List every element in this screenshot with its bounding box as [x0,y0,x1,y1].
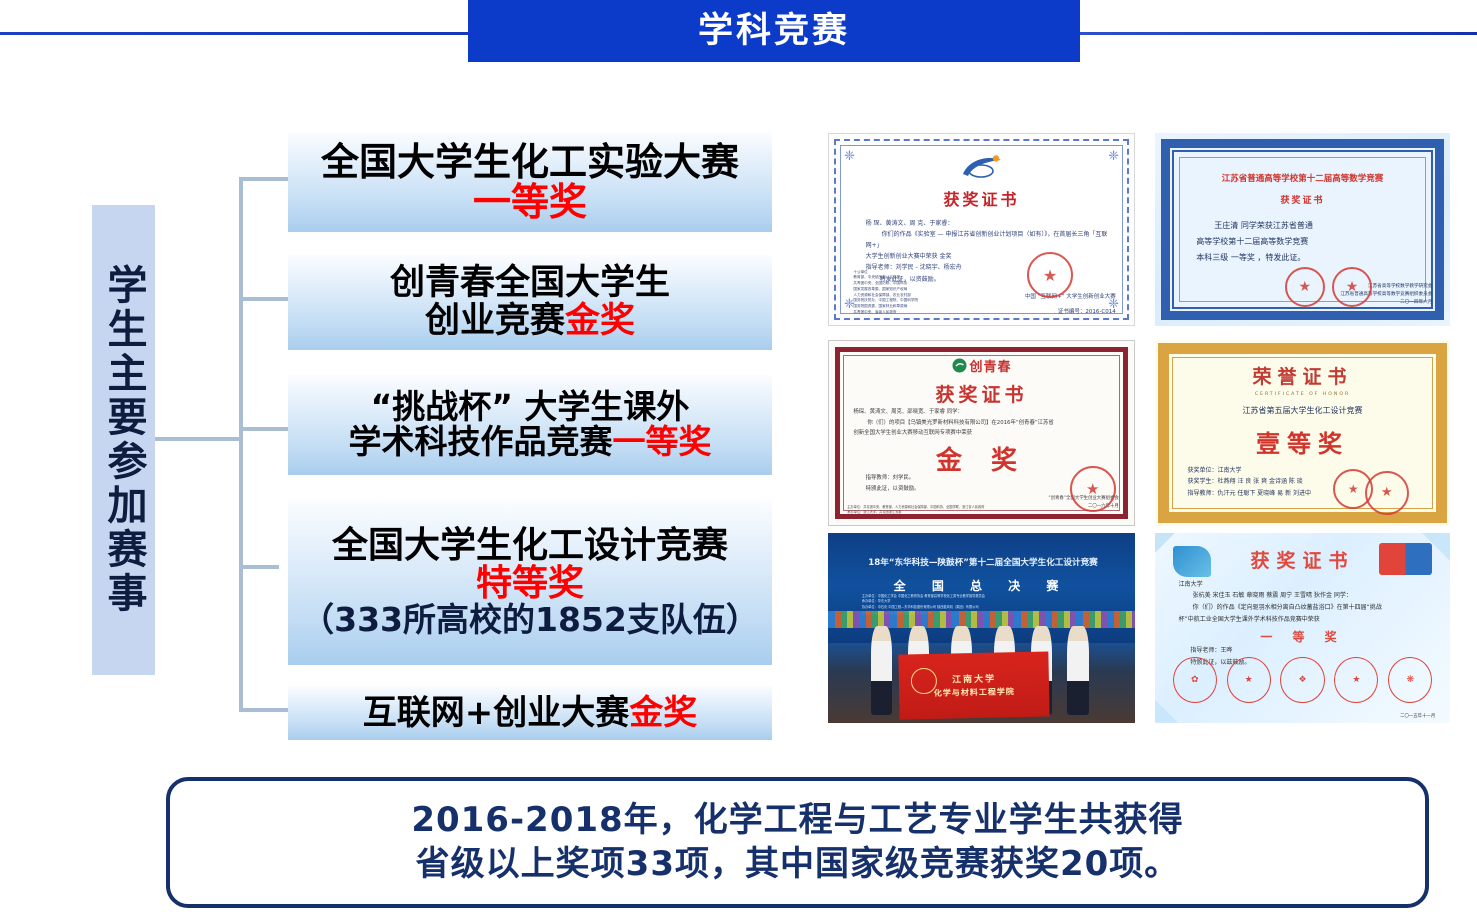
competition-5-award: 金奖 [629,693,697,733]
connector-branch-5 [239,708,289,712]
competition-3-name-line2: 学术科技作品竞赛一等奖 [349,425,712,460]
competition-card-3[interactable]: “挑战杯” 大学生课外 学术科技作品竞赛一等奖 [288,375,772,475]
competition-emblem-icon [959,155,1005,179]
competition-2-award: 金奖 [565,301,635,341]
stage-screen-tiles [828,611,1135,628]
competition-2-name-line2-text: 创业竞赛 [425,301,565,341]
certificate-2-body: 王庄清 同学荣获江苏省普通 高等学校第十二届高等数学竞赛 本科三级 一等奖 ，特… [1196,218,1426,266]
competition-3-name-line2-text: 学术科技作品竞赛 [349,422,613,461]
competition-card-1[interactable]: 全国大学生化工实验大赛 一等奖 [288,132,772,232]
connector-branch-4 [239,565,279,569]
certificate-6-header: 获奖证书 [1155,546,1450,573]
red-seal-stamp-icon: ★ [1332,267,1372,307]
certificate-greek-key[interactable]: 江苏省普通高等学校第十二届高等数学竞赛 获奖证书 王庄清 同学荣获江苏省普通 高… [1155,133,1450,326]
certificate-4-subtitle-en: CERTIFICATE OF HONOR [1155,392,1450,397]
competition-4-name: 全国大学生化工设计竞赛 [332,527,728,565]
certificate-6-date: 二〇一五年十一月 [1400,713,1435,719]
page-title: 学科竞赛 [698,14,850,49]
certificate-3-foot-line2: 特颁此证，以资鼓励。 [866,484,920,494]
person-figure [1067,626,1088,715]
certificate-3-body-line2: 你（们）的项目【乌镇美光罗新材料科技有限公司】在2016年“创青春”江苏省 [853,418,1115,428]
certificate-4-prize: 壹等奖 [1155,424,1450,459]
slide-canvas: 学科竞赛 学生主要参加赛事 全国大学生化工实验大赛 一等奖 创青春全国大学生 创… [0,0,1477,919]
connector-vertical-spine [239,177,243,712]
certificate-3-fineprint: 主办单位：共青团中央、教育部、人力资源和社会保障部、中国科协、全国学联、浙江省人… [847,505,984,516]
connector-branch-1 [239,177,289,181]
certificate-4-header: 荣誉证书 [1155,362,1450,389]
red-seal-stamp-icon: ★ [1334,657,1378,703]
certificate-4-subtitle-cn: 江苏省第五届大学生化工设计竞赛 [1155,405,1450,416]
certificate-3-foot-line1: 指导教师：刘学民。 [866,473,920,483]
competition-card-5[interactable]: 互联网+创业大赛金奖 [288,686,772,740]
competition-3-award: 一等奖 [613,422,712,461]
connector-branch-3 [239,427,289,431]
summary-line-2: 省级以上奖项33项，其中国家级竞赛获奖20项。 [416,843,1180,887]
competition-2-name-line1: 创青春全国大学生 [390,265,670,302]
banner-line2: 化学与材料工程学院 [933,686,1014,699]
certificate-challenge-cup[interactable]: 获奖证书 江南大学 张杭美 宋佳玉 石敏 章晓雨 蔡震 周宁 王雪晴 狄作金 同… [1155,533,1450,723]
summary-box: 2016-2018年，化学工程与工艺专业学生共获得 省级以上奖项33项，其中国家… [166,777,1429,908]
floral-ornament-icon: ❈ [844,150,855,163]
red-seal-stamp-icon: ★ [1070,466,1116,512]
certificate-3-body: 杨琛、黄涛文、周克、邵晓宽、于家睿 同学： 你（们）的项目【乌镇美光罗新材料科技… [853,407,1115,438]
certificate-chuangqingchun[interactable]: 创青春 获奖证书 杨琛、黄涛文、周克、邵晓宽、于家睿 同学： 你（们）的项目【乌… [828,340,1135,526]
photo-national-final[interactable]: 18年“东华科技—陕鼓杯”第十二届全国大学生化工设计竞赛 全 国 总 决 赛 主… [828,533,1135,723]
certificate-6-body-line2: 张杭美 宋佳玉 石敏 章晓雨 蔡震 周宁 王雪晴 狄作金 同学： [1179,590,1433,602]
certificate-2-header-line1: 江苏省普通高等学校第十二届高等数学竞赛 [1179,172,1427,184]
connector-branch-2 [239,297,289,301]
certificate-2-body-line2: 高等学校第十二届高等数学竞赛 [1196,234,1426,250]
connector-stub-to-label [155,437,241,441]
certificate-6-body-line4: 杯”中航工业全国大学生课外学术科技作品竞赛中荣获 [1179,614,1433,626]
certificate-blue-floral[interactable]: ❈ ❈ ❈ ❈ 获奖证书 杨 琛、黄涛文、周 克、于家睿： 你们的作品《实验室 … [828,133,1135,326]
certificate-6-body-line3: 你（们）的作品《定向驱羽水相分离自凸纹蓄盐浴口》在第十四届“挑战 [1179,602,1433,614]
vertical-category-label: 学生主要参加赛事 [92,205,155,675]
certificate-1-serial: 证书编号：2016-C014 [1058,307,1116,315]
competition-5-line: 互联网+创业大赛金奖 [363,695,698,731]
certificate-1-recipients: 杨 琛、黄涛文、周 克、于家睿： [866,218,1110,229]
banner-line1: 江南大学 [952,672,996,686]
person-figure [871,626,892,715]
certificate-6-stamp-row: ✿ ★ ❖ ★ ❋ [1173,655,1433,706]
floral-ornament-icon: ❈ [1108,150,1119,163]
certificate-2-body-line3: 本科三级 一等奖 ，特发此证。 [1196,250,1426,266]
competition-2-name-line2: 创业竞赛金奖 [425,303,635,340]
competition-1-name: 全国大学生化工实验大赛 [321,142,739,182]
red-seal-stamp-icon: ★ [1285,267,1325,307]
certificate-3-brand-text: 创青春 [969,356,1011,375]
certificate-1-body-line1: 你们的作品《实验室 — 申报江苏省创新创业计划项目（如有）》，在首届长三角「互联… [866,229,1110,251]
competition-card-4[interactable]: 全国大学生化工设计竞赛 特等奖 （333所高校的1852支队伍） [288,500,772,665]
red-seal-stamp-icon: ★ [1027,252,1073,298]
certificate-3-brand: 创青春 [951,356,1011,375]
certificate-2-signature-3: 二〇一四年六月 [1232,299,1433,307]
red-seal-stamp-icon: ★ [1227,657,1271,703]
certificate-3-body-line1: 杨琛、黄涛文、周克、邵晓宽、于家睿 同学： [853,407,1115,417]
competition-4-award: 特等奖 [476,565,584,603]
competition-3-name-line1: “挑战杯” 大学生课外 [371,390,690,425]
certificate-1-fineprint: 十公单位教育部、中央统战部、工信部共青团中央、全国妇联、中国科协国家发展改革委、… [853,270,918,316]
certificate-honor-gold[interactable]: 荣誉证书 CERTIFICATE OF HONOR 江苏省第五届大学生化工设计竞… [1155,340,1450,526]
summary-line-1: 2016-2018年，化学工程与工艺专业学生共获得 [411,799,1183,843]
certificate-2-header-line2: 获奖证书 [1155,193,1450,206]
red-seal-stamp-icon: ✿ [1173,657,1217,703]
competition-4-note: （333所高校的1852支队伍） [301,603,759,638]
certificate-6-body-line1: 江南大学 [1179,579,1433,591]
certificate-6-body: 江南大学 张杭美 宋佳玉 石敏 章晓雨 蔡震 周宁 王雪晴 狄作金 同学： 你（… [1179,579,1433,626]
certificate-6-prize: 一 等 奖 [1155,628,1450,645]
certificate-1-body-line2: 大学生创新创业大赛中荣获 金奖 [866,251,1110,262]
photo-screen-line2: 全 国 总 决 赛 [828,577,1135,594]
red-seal-stamp-icon: ❋ [1388,657,1432,703]
certificate-3-header: 获奖证书 [829,380,1134,407]
chuangqingchun-logo-icon [951,358,966,373]
photo-screen-line1: 18年“东华科技—陕鼓杯”第十二届全国大学生化工设计竞赛 [834,556,1132,568]
certificate-3-body-line3: 创新全国大学生创业大赛移动互联网专项赛中荣获 [853,428,1115,438]
university-seal-icon [910,668,936,694]
competition-1-award: 一等奖 [473,182,587,222]
vertical-category-label-text: 学生主要参加赛事 [103,264,145,616]
certificate-2-body-line1: 王庄清 同学荣获江苏省普通 [1196,218,1426,234]
certificate-3-foot: 指导教师：刘学民。 特颁此证，以资鼓励。 [866,473,920,494]
red-seal-stamp-icon: ❖ [1280,657,1324,703]
slide-title-banner: 学科竞赛 [468,0,1080,62]
competition-5-name: 互联网+创业大赛 [363,693,630,733]
competition-card-2[interactable]: 创青春全国大学生 创业竞赛金奖 [288,255,772,350]
certificate-1-header: 获奖证书 [829,186,1134,210]
team-banner: 江南大学 化学与材料工程学院 [898,651,1050,719]
